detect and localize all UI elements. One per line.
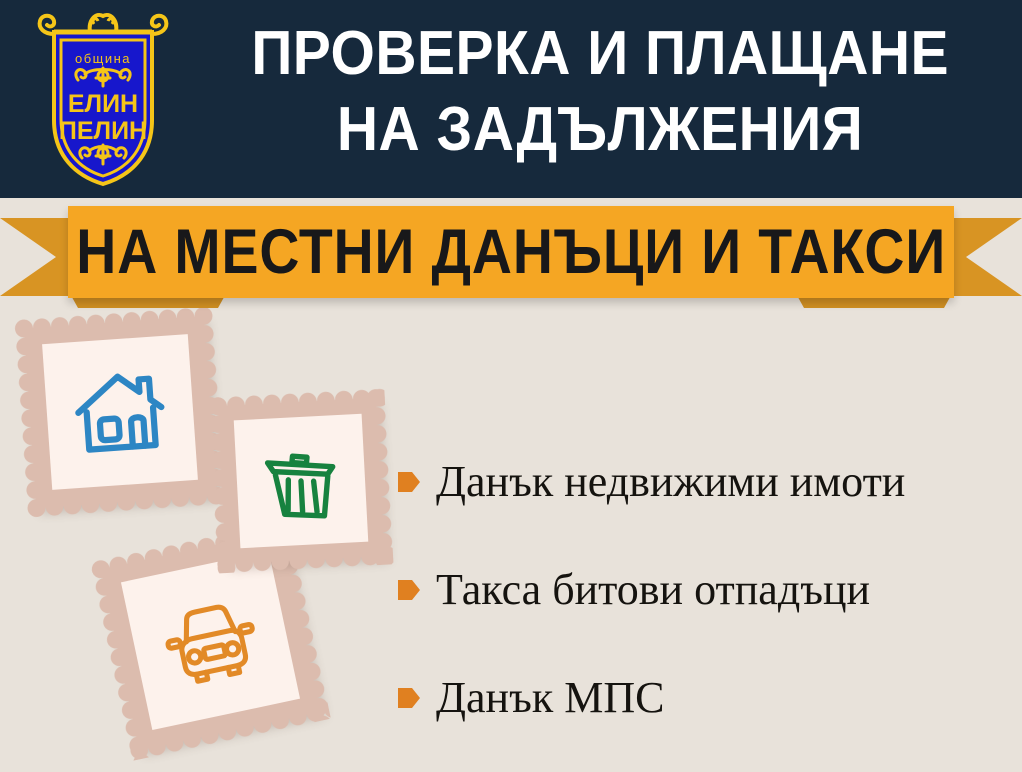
arrow-bullet-icon xyxy=(398,577,420,603)
list-item[interactable]: Данък недвижими имоти xyxy=(398,428,1008,536)
stamp-perforation-left xyxy=(14,319,46,518)
stamp-paper xyxy=(121,551,300,730)
list-item-label: Такса битови отпадъци xyxy=(436,566,870,614)
arrow-bullet-icon xyxy=(398,469,420,495)
logo-top-label: община xyxy=(75,51,131,66)
subtitle-ribbon: НА МЕСТНИ ДАНЪЦИ И ТАКСИ xyxy=(0,198,1022,310)
page-title: ПРОВЕРКА И ПЛАЩАНЕ НА ЗАДЪЛЖЕНИЯ xyxy=(190,16,1010,186)
stamp-paper xyxy=(42,334,198,490)
municipality-logo: община ЕЛИН ПЕЛИН xyxy=(30,8,176,190)
car-front-icon xyxy=(150,580,271,701)
logo-name-line2: ПЕЛИН xyxy=(59,117,147,145)
list-item-label: Данък недвижими имоти xyxy=(436,458,905,506)
logo-name-line1: ЕЛИН xyxy=(68,90,138,118)
list-item[interactable]: Данък МПС xyxy=(398,644,1008,752)
arrow-bullet-icon xyxy=(398,685,420,711)
trash-bin-icon xyxy=(254,434,349,529)
title-line-1: ПРОВЕРКА И ПЛАЩАНЕ xyxy=(251,16,949,92)
title-line-2: НА ЗАДЪЛЖЕНИЯ xyxy=(337,92,863,168)
ribbon-banner: НА МЕСТНИ ДАНЪЦИ И ТАКСИ xyxy=(68,206,954,298)
stamp-card-waste xyxy=(218,398,384,564)
list-item-label: Данък МПС xyxy=(436,674,664,722)
ribbon-label: НА МЕСТНИ ДАНЪЦИ И ТАКСИ xyxy=(76,219,946,285)
tax-types-list: Данък недвижими имоти Такса битови отпад… xyxy=(398,428,1008,752)
list-item[interactable]: Такса битови отпадъци xyxy=(398,536,1008,644)
stamp-perforation-right xyxy=(366,389,393,566)
stamp-paper xyxy=(234,414,369,549)
stamp-card-house xyxy=(24,316,216,508)
coat-of-arms-icon: община ЕЛИН ПЕЛИН xyxy=(30,8,176,190)
house-icon xyxy=(64,356,175,467)
poster-canvas: община ЕЛИН ПЕЛИН xyxy=(0,0,1022,772)
